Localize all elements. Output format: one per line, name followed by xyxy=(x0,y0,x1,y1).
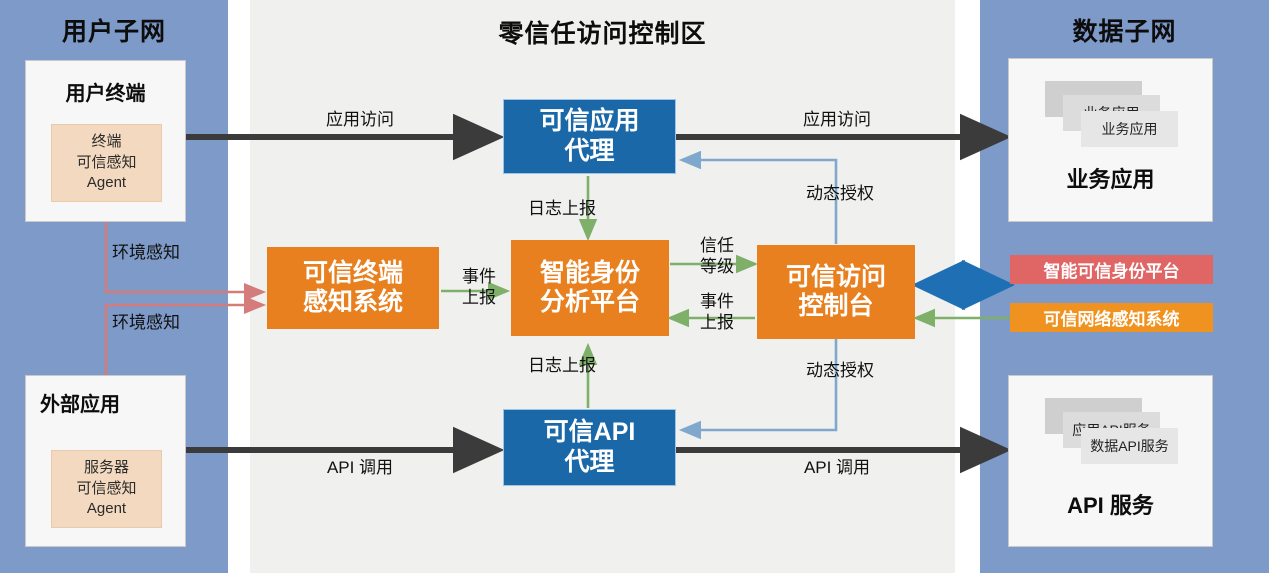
api-service-label: API 服务 xyxy=(1009,488,1212,520)
label-api-call-right: API 调用 xyxy=(777,457,897,478)
agent-line-2: 可信感知 xyxy=(76,479,136,500)
box-line-2: 代理 xyxy=(564,448,614,478)
agent-line-1: 服务器 xyxy=(84,458,129,479)
agent-line-3: Agent xyxy=(87,173,126,194)
label-dynamic-auth-bottom: 动态授权 xyxy=(780,360,900,381)
chip-intelligent-trusted-identity-platform[interactable]: 智能可信身份平台 xyxy=(1010,255,1213,284)
panel-title-user-subnet: 用户子网 xyxy=(0,12,228,48)
external-app-agent: 服务器 可信感知 Agent xyxy=(51,450,162,528)
label-event-report-right: 事件 上报 xyxy=(688,291,746,334)
box-identity-analysis-platform[interactable]: 智能身份 分析平台 xyxy=(511,240,669,336)
label-event-report-left: 事件 上报 xyxy=(448,266,510,309)
event-report-line-2: 上报 xyxy=(688,312,746,333)
label-log-report-bottom: 日志上报 xyxy=(528,355,648,376)
agent-line-1: 终端 xyxy=(91,132,121,153)
box-line-1: 可信应用 xyxy=(539,107,639,137)
host-business-app: 业务应用 业务应用 业务应用 xyxy=(1008,58,1213,222)
box-trusted-app-proxy[interactable]: 可信应用 代理 xyxy=(503,99,676,174)
user-terminal-agent: 终端 可信感知 Agent xyxy=(51,124,162,202)
external-app-title: 外部应用 xyxy=(26,388,185,417)
label-trust-level: 信任 等级 xyxy=(688,235,746,278)
event-report-line-1: 事件 xyxy=(448,266,510,287)
label-api-call-left: API 调用 xyxy=(300,457,420,478)
host-user-terminal: 用户终端 终端 可信感知 Agent xyxy=(25,60,186,222)
box-line-1: 可信终端 xyxy=(303,259,403,289)
box-line-2: 分析平台 xyxy=(540,288,640,318)
agent-line-3: Agent xyxy=(87,499,126,520)
business-app-label: 业务应用 xyxy=(1009,162,1212,194)
host-api-service: 应用API服务 数据API服务 API 服务 xyxy=(1008,375,1213,547)
user-terminal-title: 用户终端 xyxy=(26,77,185,106)
api-service-tile-3: 数据API服务 xyxy=(1081,428,1178,464)
agent-line-2: 可信感知 xyxy=(76,153,136,174)
trust-level-line-2: 等级 xyxy=(688,256,746,277)
trust-level-line-1: 信任 xyxy=(688,235,746,256)
box-line-2: 控制台 xyxy=(798,292,873,322)
box-line-1: 智能身份 xyxy=(540,259,640,289)
box-line-1: 可信访问 xyxy=(786,263,886,293)
panel-title-zero-trust: 零信任访问控制区 xyxy=(250,14,955,50)
box-trusted-access-console[interactable]: 可信访问 控制台 xyxy=(757,245,915,339)
label-app-access-left: 应用访问 xyxy=(300,109,420,130)
diagram-canvas: 用户子网 零信任访问控制区 数据子网 xyxy=(0,0,1269,573)
host-external-app: 外部应用 服务器 可信感知 Agent xyxy=(25,375,186,547)
box-line-1: 可信API xyxy=(544,418,636,448)
label-env-sense-top: 环境感知 xyxy=(112,242,212,263)
business-app-tile-3: 业务应用 xyxy=(1081,111,1178,147)
box-trusted-api-proxy[interactable]: 可信API 代理 xyxy=(503,409,676,486)
label-dynamic-auth-top: 动态授权 xyxy=(780,183,900,204)
label-app-access-right: 应用访问 xyxy=(777,109,897,130)
event-report-line-1: 事件 xyxy=(688,291,746,312)
box-line-2: 感知系统 xyxy=(303,288,403,318)
event-report-line-2: 上报 xyxy=(448,287,510,308)
panel-title-data-subnet: 数据子网 xyxy=(980,12,1269,48)
label-env-sense-bottom: 环境感知 xyxy=(112,312,212,333)
box-line-2: 代理 xyxy=(564,137,614,167)
chip-trusted-network-sensing-system[interactable]: 可信网络感知系统 xyxy=(1010,303,1213,332)
label-log-report-top: 日志上报 xyxy=(528,198,648,219)
box-trusted-terminal-sensing[interactable]: 可信终端 感知系统 xyxy=(267,247,439,329)
